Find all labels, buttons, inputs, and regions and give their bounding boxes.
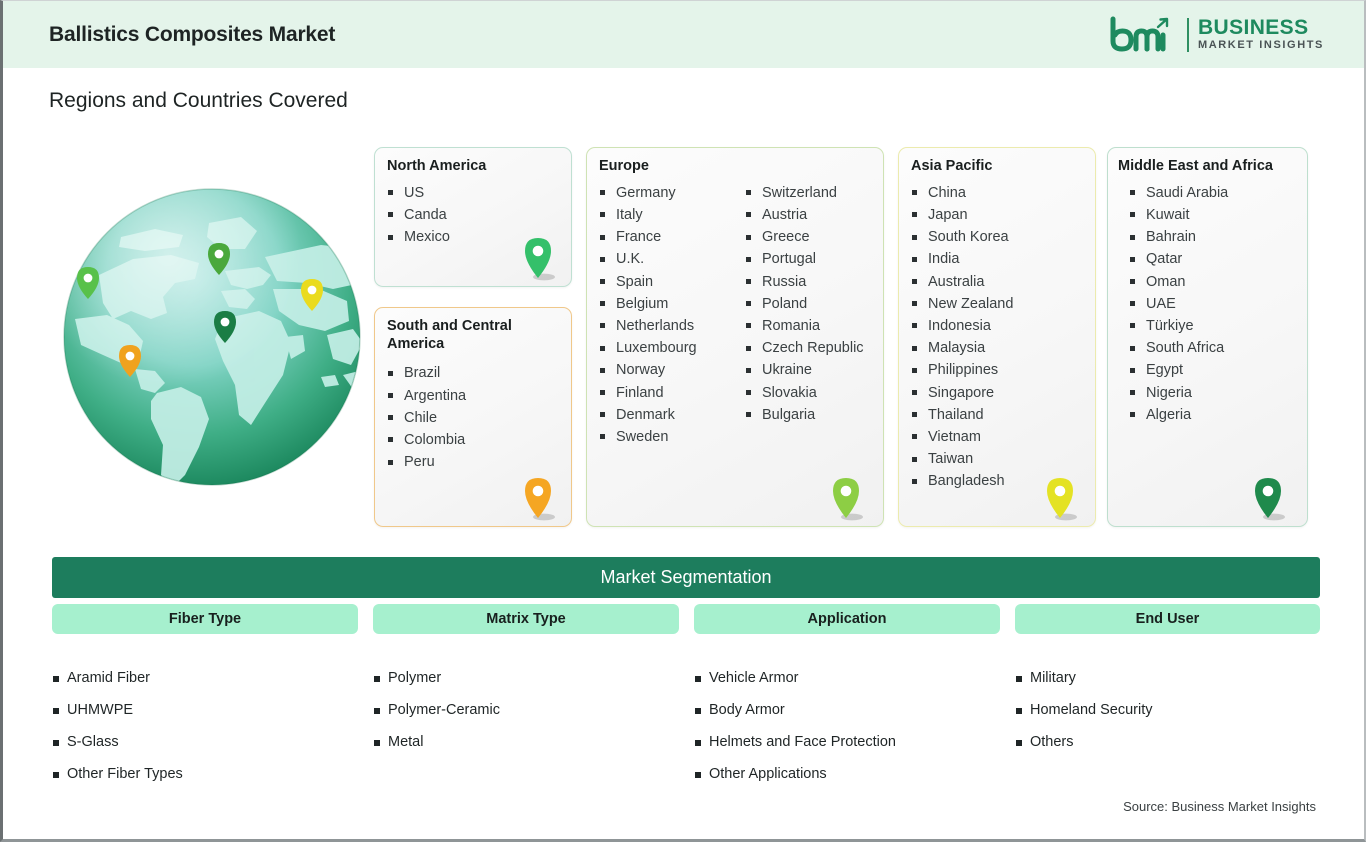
list-item: Portugal bbox=[745, 248, 864, 270]
list-item: Other Applications bbox=[694, 758, 1000, 790]
infographic-page: Ballistics Composites Market BUSINESS MA… bbox=[0, 0, 1366, 842]
segmentation-item-list: Polymer Polymer-Ceramic Metal bbox=[373, 662, 679, 758]
list-item: Bahrain bbox=[1129, 226, 1228, 248]
logo-tagline-text: MARKET INSIGHTS bbox=[1198, 39, 1324, 52]
list-item: Denmark bbox=[599, 404, 745, 426]
list-item: Belgium bbox=[599, 293, 745, 315]
list-item: Germany bbox=[599, 182, 745, 204]
region-country-list: China Japan South Korea India Australia … bbox=[911, 182, 1013, 493]
list-item: Polymer bbox=[373, 662, 679, 694]
segmentation-pill[interactable]: Fiber Type bbox=[52, 604, 358, 634]
list-item: Sweden bbox=[599, 426, 745, 448]
map-pin-icon bbox=[521, 476, 555, 522]
region-card-south-and-central-america[interactable]: South and Central America Brazil Argenti… bbox=[374, 307, 572, 527]
list-item: Peru bbox=[387, 451, 466, 473]
list-item: Austria bbox=[745, 204, 864, 226]
list-item: S-Glass bbox=[52, 726, 358, 758]
region-title: Europe bbox=[599, 158, 883, 176]
list-item: Norway bbox=[599, 359, 745, 381]
list-item: Kuwait bbox=[1129, 204, 1228, 226]
map-pin-icon bbox=[1043, 476, 1077, 522]
section-title: Regions and Countries Covered bbox=[49, 89, 348, 113]
region-card-middle-east-and-africa[interactable]: Middle East and Africa Saudi Arabia Kuwa… bbox=[1107, 147, 1308, 527]
list-item: UHMWPE bbox=[52, 694, 358, 726]
list-item: Helmets and Face Protection bbox=[694, 726, 1000, 758]
segmentation-pill[interactable]: Matrix Type bbox=[373, 604, 679, 634]
region-title: South and Central America bbox=[387, 318, 517, 353]
list-item: South Africa bbox=[1129, 337, 1228, 359]
source-caption: Source: Business Market Insights bbox=[1123, 799, 1316, 814]
list-item: Bulgaria bbox=[745, 404, 864, 426]
map-pin-icon bbox=[829, 476, 863, 522]
list-item: Oman bbox=[1129, 271, 1228, 293]
list-item: Egypt bbox=[1129, 359, 1228, 381]
segmentation-column-fiber-type: Fiber Type Aramid Fiber UHMWPE S-Glass O… bbox=[52, 604, 358, 790]
list-item: Brazil bbox=[387, 362, 466, 384]
page-header: Ballistics Composites Market BUSINESS MA… bbox=[3, 1, 1364, 68]
list-item: Slovakia bbox=[745, 382, 864, 404]
region-country-list-col1: Germany Italy France U.K. Spain Belgium … bbox=[599, 182, 745, 448]
list-item: Canda bbox=[387, 204, 450, 226]
segmentation-pill[interactable]: End User bbox=[1015, 604, 1320, 634]
list-item: Others bbox=[1015, 726, 1320, 758]
list-item: Homeland Security bbox=[1015, 694, 1320, 726]
region-card-asia-pacific[interactable]: Asia Pacific China Japan South Korea Ind… bbox=[898, 147, 1096, 527]
list-item: South Korea bbox=[911, 226, 1013, 248]
list-item: Czech Republic bbox=[745, 337, 864, 359]
list-item: Luxembourg bbox=[599, 337, 745, 359]
list-item: Other Fiber Types bbox=[52, 758, 358, 790]
list-item: Australia bbox=[911, 271, 1013, 293]
list-item: UAE bbox=[1129, 293, 1228, 315]
list-item: Finland bbox=[599, 382, 745, 404]
list-item: Malaysia bbox=[911, 337, 1013, 359]
list-item: Polymer-Ceramic bbox=[373, 694, 679, 726]
list-item: Aramid Fiber bbox=[52, 662, 358, 694]
list-item: Thailand bbox=[911, 404, 1013, 426]
brand-logo: BUSINESS MARKET INSIGHTS bbox=[1105, 15, 1324, 55]
list-item: Vietnam bbox=[911, 426, 1013, 448]
list-item: Philippines bbox=[911, 359, 1013, 381]
list-item: Romania bbox=[745, 315, 864, 337]
list-item: Japan bbox=[911, 204, 1013, 226]
page-title: Ballistics Composites Market bbox=[49, 23, 335, 47]
logo-brand-text: BUSINESS bbox=[1198, 17, 1324, 39]
segmentation-column-end-user: End User Military Homeland Security Othe… bbox=[1015, 604, 1320, 758]
list-item: Argentina bbox=[387, 385, 466, 407]
list-item: New Zealand bbox=[911, 293, 1013, 315]
list-item: Netherlands bbox=[599, 315, 745, 337]
region-card-north-america[interactable]: North America US Canda Mexico bbox=[374, 147, 572, 287]
list-item: Spain bbox=[599, 271, 745, 293]
list-item: U.K. bbox=[599, 248, 745, 270]
list-item: Metal bbox=[373, 726, 679, 758]
list-item: China bbox=[911, 182, 1013, 204]
region-title: Middle East and Africa bbox=[1118, 158, 1307, 176]
list-item: Taiwan bbox=[911, 448, 1013, 470]
list-item: Italy bbox=[599, 204, 745, 226]
segmentation-item-list: Vehicle Armor Body Armor Helmets and Fac… bbox=[694, 662, 1000, 790]
segmentation-column-application: Application Vehicle Armor Body Armor Hel… bbox=[694, 604, 1000, 790]
list-item: Nigeria bbox=[1129, 382, 1228, 404]
world-globe-illustration bbox=[59, 179, 365, 495]
bmi-logo-icon bbox=[1105, 15, 1181, 55]
region-country-list: Brazil Argentina Chile Colombia Peru bbox=[387, 362, 466, 473]
list-item: Russia bbox=[745, 271, 864, 293]
region-country-list-col2: Switzerland Austria Greece Portugal Russ… bbox=[745, 182, 864, 448]
list-item: Mexico bbox=[387, 226, 450, 248]
market-segmentation-header: Market Segmentation bbox=[52, 557, 1320, 598]
list-item: Greece bbox=[745, 226, 864, 248]
list-item: Vehicle Armor bbox=[694, 662, 1000, 694]
map-pin-icon bbox=[1251, 476, 1285, 522]
list-item: Bangladesh bbox=[911, 470, 1013, 492]
region-title: North America bbox=[387, 158, 571, 176]
region-country-list: US Canda Mexico bbox=[387, 182, 450, 249]
list-item: US bbox=[387, 182, 450, 204]
logo-divider bbox=[1187, 18, 1189, 52]
list-item: Singapore bbox=[911, 382, 1013, 404]
list-item: Poland bbox=[745, 293, 864, 315]
list-item: Military bbox=[1015, 662, 1320, 694]
list-item: Chile bbox=[387, 407, 466, 429]
region-card-europe[interactable]: Europe Germany Italy France U.K. Spain B… bbox=[586, 147, 884, 527]
list-item: Colombia bbox=[387, 429, 466, 451]
map-pin-icon bbox=[521, 236, 555, 282]
region-country-list: Saudi Arabia Kuwait Bahrain Qatar Oman U… bbox=[1129, 182, 1228, 426]
list-item: Switzerland bbox=[745, 182, 864, 204]
segmentation-item-list: Aramid Fiber UHMWPE S-Glass Other Fiber … bbox=[52, 662, 358, 790]
list-item: India bbox=[911, 248, 1013, 270]
list-item: France bbox=[599, 226, 745, 248]
list-item: Algeria bbox=[1129, 404, 1228, 426]
segmentation-item-list: Military Homeland Security Others bbox=[1015, 662, 1320, 758]
list-item: Qatar bbox=[1129, 248, 1228, 270]
list-item: Türkiye bbox=[1129, 315, 1228, 337]
list-item: Saudi Arabia bbox=[1129, 182, 1228, 204]
list-item: Ukraine bbox=[745, 359, 864, 381]
list-item: Indonesia bbox=[911, 315, 1013, 337]
list-item: Body Armor bbox=[694, 694, 1000, 726]
segmentation-column-matrix-type: Matrix Type Polymer Polymer-Ceramic Meta… bbox=[373, 604, 679, 758]
segmentation-pill[interactable]: Application bbox=[694, 604, 1000, 634]
region-title: Asia Pacific bbox=[911, 158, 1095, 176]
